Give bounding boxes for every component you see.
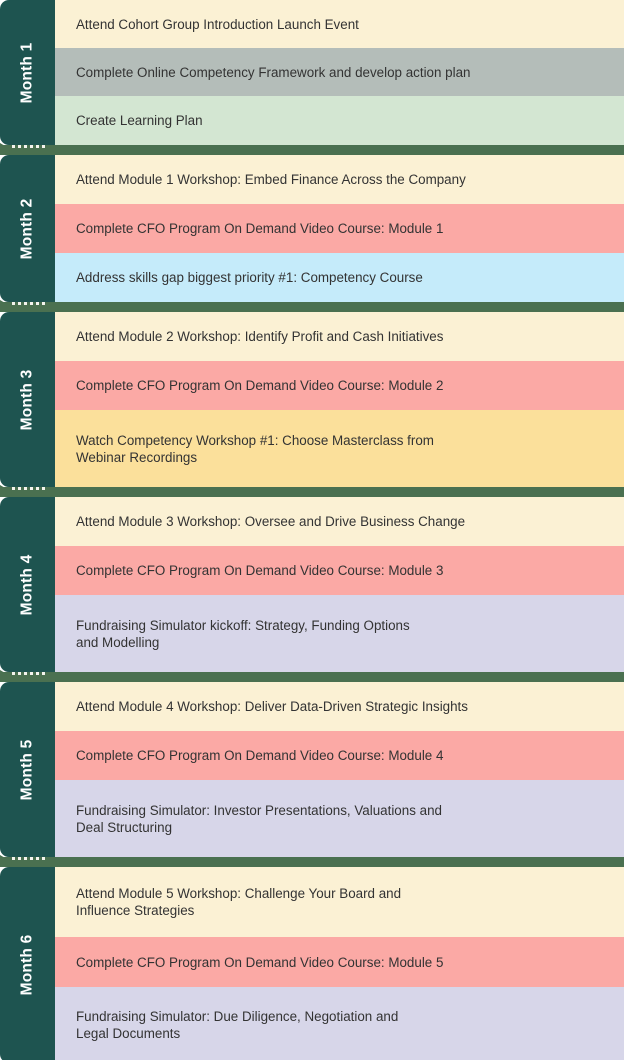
task-stack-6: Attend Module 5 Workshop: Challenge Your… bbox=[55, 867, 624, 1060]
task-row[interactable]: Attend Cohort Group Introduction Launch … bbox=[55, 0, 624, 48]
task-row-label: Complete CFO Program On Demand Video Cou… bbox=[76, 954, 443, 971]
task-row-label: Attend Module 4 Workshop: Deliver Data-D… bbox=[76, 698, 468, 715]
month-separator bbox=[0, 672, 624, 682]
rail-dotted-tab-icon bbox=[12, 145, 46, 148]
task-stack-2: Attend Module 1 Workshop: Embed Finance … bbox=[55, 155, 624, 302]
month-block-5: Month 5Attend Module 4 Workshop: Deliver… bbox=[0, 682, 624, 857]
month-separator bbox=[0, 487, 624, 497]
month-separator bbox=[0, 857, 624, 867]
month-block-4: Month 4Attend Module 3 Workshop: Oversee… bbox=[0, 497, 624, 672]
month-block-6: Month 6Attend Module 5 Workshop: Challen… bbox=[0, 867, 624, 1060]
task-row[interactable]: Complete Online Competency Framework and… bbox=[55, 48, 624, 96]
month-label-text: Month 4 bbox=[19, 554, 37, 615]
task-row-label: Address skills gap biggest priority #1: … bbox=[76, 269, 423, 286]
month-block-2: Month 2Attend Module 1 Workshop: Embed F… bbox=[0, 155, 624, 302]
task-row[interactable]: Attend Module 1 Workshop: Embed Finance … bbox=[55, 155, 624, 204]
task-row[interactable]: Attend Module 2 Workshop: Identify Profi… bbox=[55, 312, 624, 361]
task-row-label: Attend Module 3 Workshop: Oversee and Dr… bbox=[76, 513, 465, 530]
task-row[interactable]: Complete CFO Program On Demand Video Cou… bbox=[55, 937, 624, 987]
task-row-label: Attend Module 2 Workshop: Identify Profi… bbox=[76, 328, 443, 345]
task-row[interactable]: Complete CFO Program On Demand Video Cou… bbox=[55, 546, 624, 595]
task-row[interactable]: Complete CFO Program On Demand Video Cou… bbox=[55, 731, 624, 780]
task-stack-5: Attend Module 4 Workshop: Deliver Data-D… bbox=[55, 682, 624, 857]
month-label-rail-4[interactable]: Month 4 bbox=[0, 497, 55, 672]
rail-dotted-tab-icon bbox=[12, 302, 46, 305]
roadmap-timeline: Month 1Attend Cohort Group Introduction … bbox=[0, 0, 624, 1060]
task-row[interactable]: Complete CFO Program On Demand Video Cou… bbox=[55, 361, 624, 410]
rail-dotted-tab-icon bbox=[12, 857, 46, 860]
task-row[interactable]: Attend Module 5 Workshop: Challenge Your… bbox=[55, 867, 624, 937]
month-label-rail-3[interactable]: Month 3 bbox=[0, 312, 55, 487]
task-row-label: Attend Module 5 Workshop: Challenge Your… bbox=[76, 885, 401, 919]
task-row-label: Complete CFO Program On Demand Video Cou… bbox=[76, 220, 443, 237]
rail-dotted-tab-icon bbox=[12, 672, 46, 675]
rail-dotted-tab-icon bbox=[12, 487, 46, 490]
task-row[interactable]: Attend Module 3 Workshop: Oversee and Dr… bbox=[55, 497, 624, 546]
month-label-rail-6[interactable]: Month 6 bbox=[0, 867, 55, 1060]
month-label-text: Month 1 bbox=[19, 42, 37, 103]
task-row[interactable]: Fundraising Simulator: Due Diligence, Ne… bbox=[55, 987, 624, 1060]
task-stack-1: Attend Cohort Group Introduction Launch … bbox=[55, 0, 624, 145]
month-label-rail-5[interactable]: Month 5 bbox=[0, 682, 55, 857]
month-block-3: Month 3Attend Module 2 Workshop: Identif… bbox=[0, 312, 624, 487]
task-row[interactable]: Address skills gap biggest priority #1: … bbox=[55, 253, 624, 302]
task-row-label: Attend Cohort Group Introduction Launch … bbox=[76, 16, 359, 33]
month-block-1: Month 1Attend Cohort Group Introduction … bbox=[0, 0, 624, 145]
month-label-text: Month 3 bbox=[19, 369, 37, 430]
task-row-label: Complete CFO Program On Demand Video Cou… bbox=[76, 377, 443, 394]
task-row-label: Fundraising Simulator kickoff: Strategy,… bbox=[76, 617, 410, 651]
task-row[interactable]: Fundraising Simulator: Investor Presenta… bbox=[55, 780, 624, 857]
task-row-label: Attend Module 1 Workshop: Embed Finance … bbox=[76, 171, 466, 188]
task-row[interactable]: Fundraising Simulator kickoff: Strategy,… bbox=[55, 595, 624, 672]
task-stack-4: Attend Module 3 Workshop: Oversee and Dr… bbox=[55, 497, 624, 672]
task-row-label: Complete CFO Program On Demand Video Cou… bbox=[76, 747, 443, 764]
month-label-rail-1[interactable]: Month 1 bbox=[0, 0, 55, 145]
task-row-label: Fundraising Simulator: Investor Presenta… bbox=[76, 802, 442, 836]
task-row-label: Fundraising Simulator: Due Diligence, Ne… bbox=[76, 1008, 398, 1042]
month-separator bbox=[0, 145, 624, 155]
month-label-text: Month 6 bbox=[19, 935, 37, 996]
task-row-label: Watch Competency Workshop #1: Choose Mas… bbox=[76, 432, 434, 466]
month-label-text: Month 5 bbox=[19, 739, 37, 800]
month-label-rail-2[interactable]: Month 2 bbox=[0, 155, 55, 302]
task-row-label: Complete Online Competency Framework and… bbox=[76, 64, 471, 81]
task-row[interactable]: Complete CFO Program On Demand Video Cou… bbox=[55, 204, 624, 253]
task-row[interactable]: Attend Module 4 Workshop: Deliver Data-D… bbox=[55, 682, 624, 731]
task-row[interactable]: Watch Competency Workshop #1: Choose Mas… bbox=[55, 410, 624, 487]
month-label-text: Month 2 bbox=[19, 198, 37, 259]
task-row-label: Create Learning Plan bbox=[76, 112, 203, 129]
task-row-label: Complete CFO Program On Demand Video Cou… bbox=[76, 562, 443, 579]
task-stack-3: Attend Module 2 Workshop: Identify Profi… bbox=[55, 312, 624, 487]
month-separator bbox=[0, 302, 624, 312]
task-row[interactable]: Create Learning Plan bbox=[55, 96, 624, 145]
